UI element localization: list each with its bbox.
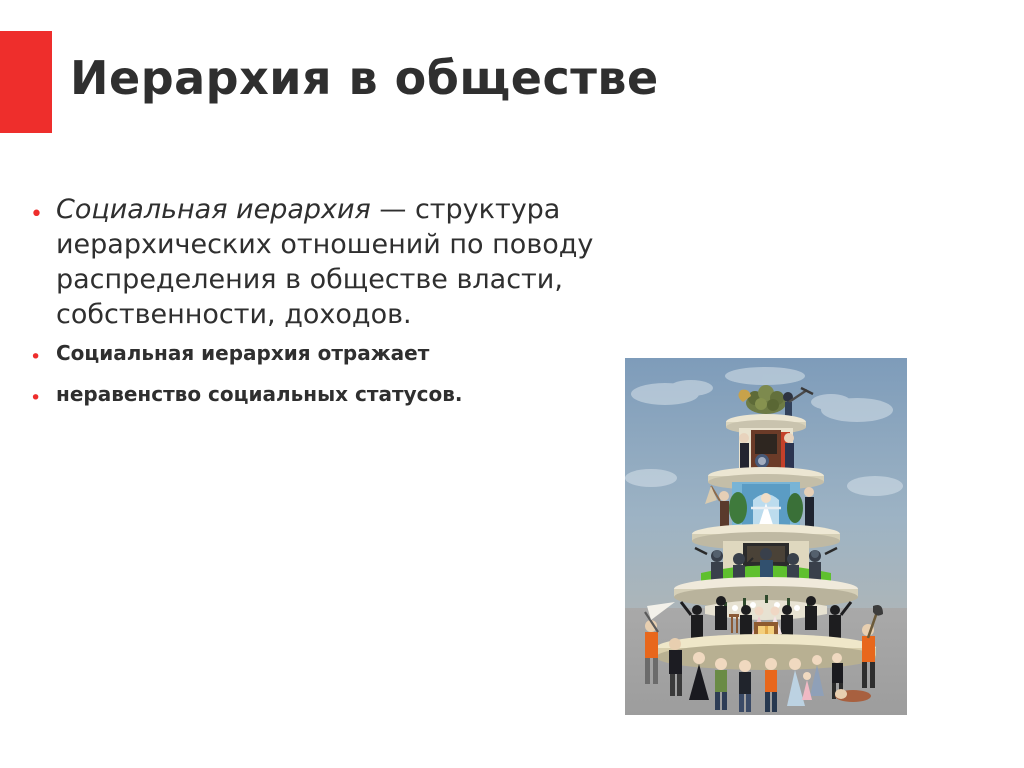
list-item: • Социальная иерархия отражает — [30, 340, 605, 367]
page-title: Иерархия в обществе — [70, 52, 950, 105]
title-accent-block — [0, 31, 52, 133]
bullet-emphasis-term: Социальная иерархия — [56, 194, 371, 225]
bullet-dot-icon: • — [30, 381, 56, 408]
social-hierarchy-pyramid-image — [625, 358, 907, 715]
list-item: • неравенство социальных статусов. — [30, 381, 605, 408]
slide-root: Иерархия в обществе • Социальная иерархи… — [0, 0, 1024, 768]
bullet-dot-icon: • — [30, 340, 56, 367]
list-item: • Социальная иерархия — структура иерарх… — [30, 192, 605, 332]
bullet-text-1: Социальная иерархия — структура иерархич… — [56, 192, 605, 332]
bullet-list: • Социальная иерархия — структура иерарх… — [30, 192, 605, 408]
bullet-text-3: неравенство социальных статусов. — [56, 381, 605, 408]
pyramid-illustration-svg — [625, 358, 907, 715]
bullet-dot-icon: • — [30, 192, 56, 226]
bullet-text-2: Социальная иерархия отражает — [56, 340, 605, 367]
